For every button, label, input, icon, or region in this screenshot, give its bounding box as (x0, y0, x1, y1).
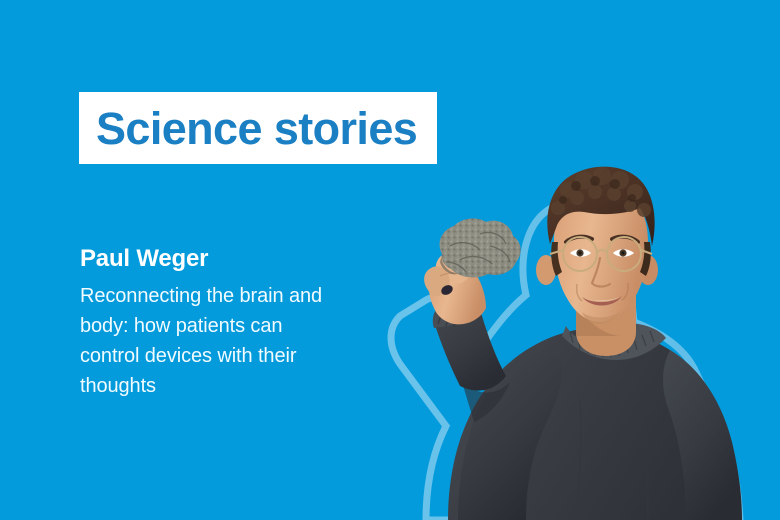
talk-title-line: body: how patients can (80, 311, 370, 341)
brain-model (440, 219, 521, 278)
science-stories-slide: Science stories Paul Weger Reconnecting … (0, 0, 780, 520)
talk-title-line: thoughts (80, 371, 370, 401)
talk-title-line: Reconnecting the brain and (80, 281, 370, 311)
head (536, 167, 658, 324)
speaker-name: Paul Weger (80, 245, 370, 273)
talk-title: Reconnecting the brain and body: how pat… (80, 281, 370, 401)
speaker-portrait-photo (330, 150, 780, 520)
speaker-block: Paul Weger Reconnecting the brain and bo… (80, 245, 370, 401)
page-title: Science stories (96, 106, 417, 151)
talk-title-line: control devices with their (80, 341, 370, 371)
